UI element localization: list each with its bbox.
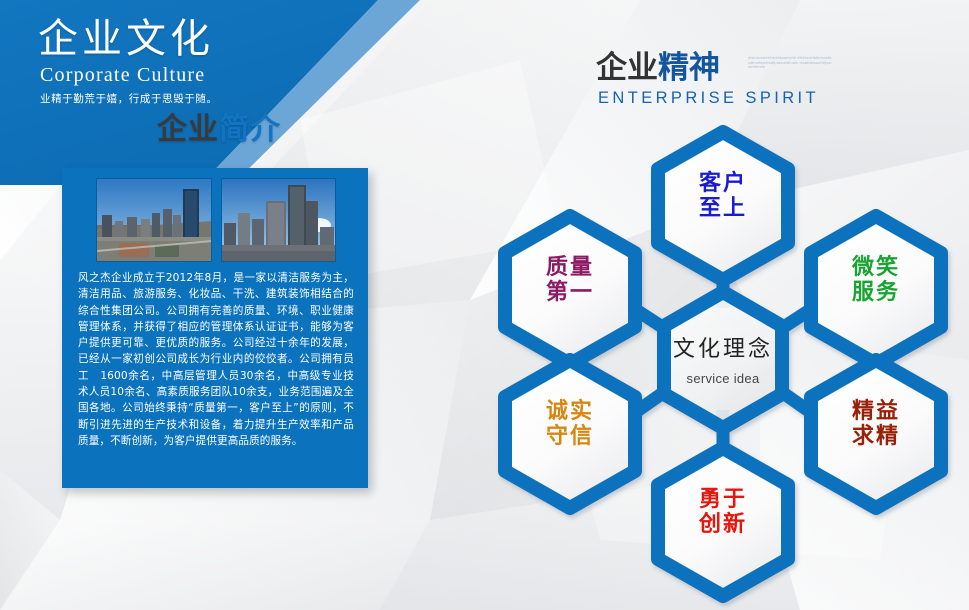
header-text-block: 企业文化 Corporate Culture 业精于勤荒于嬉，行成于思毁于随。 (38, 16, 368, 107)
spirit-decorative-blurb: dfskdsuiwehfdskfdwomcfdl dfnfberkfbfuims… (748, 56, 832, 70)
spirit-title-dark: 企业 (596, 50, 658, 86)
spirit-header-block: 企业精神 ENTERPRISE SPIRIT dfskdsuiwehfdskfd… (596, 50, 826, 108)
culture-hexagon-diagram: 客户 至上 质量 第一 微笑 服务 诚实 守信 精益 求精 勇于 创新 文化理念… (478, 110, 969, 610)
intro-section-title: 企业简介 (157, 112, 281, 148)
company-intro-panel: 风之杰企业成立于2012年8月，是一家以清洁服务为主，清洁用品、旅游服务、化妆品… (62, 168, 368, 488)
spirit-title-blue: 精神 (658, 50, 720, 86)
intro-title-dark: 企业 (157, 112, 219, 147)
poster-canvas: 企业文化 Corporate Culture 业精于勤荒于嬉，行成于思毁于随。 … (0, 0, 969, 610)
intro-title-blue: 简介 (219, 112, 281, 147)
spirit-title-en: ENTERPRISE SPIRIT (598, 88, 826, 108)
header-title-cn: 企业文化 (38, 16, 368, 62)
intro-photo-strip (96, 178, 336, 260)
header-subtitle: 业精于勤荒于嬉，行成于思毁于随。 (40, 92, 368, 107)
company-intro-text: 风之杰企业成立于2012年8月，是一家以清洁服务为主，清洁用品、旅游服务、化妆品… (78, 270, 354, 449)
header-title-en: Corporate Culture (40, 63, 368, 87)
city-skyline-photo-1 (96, 178, 212, 262)
city-skyline-photo-2 (221, 178, 337, 262)
